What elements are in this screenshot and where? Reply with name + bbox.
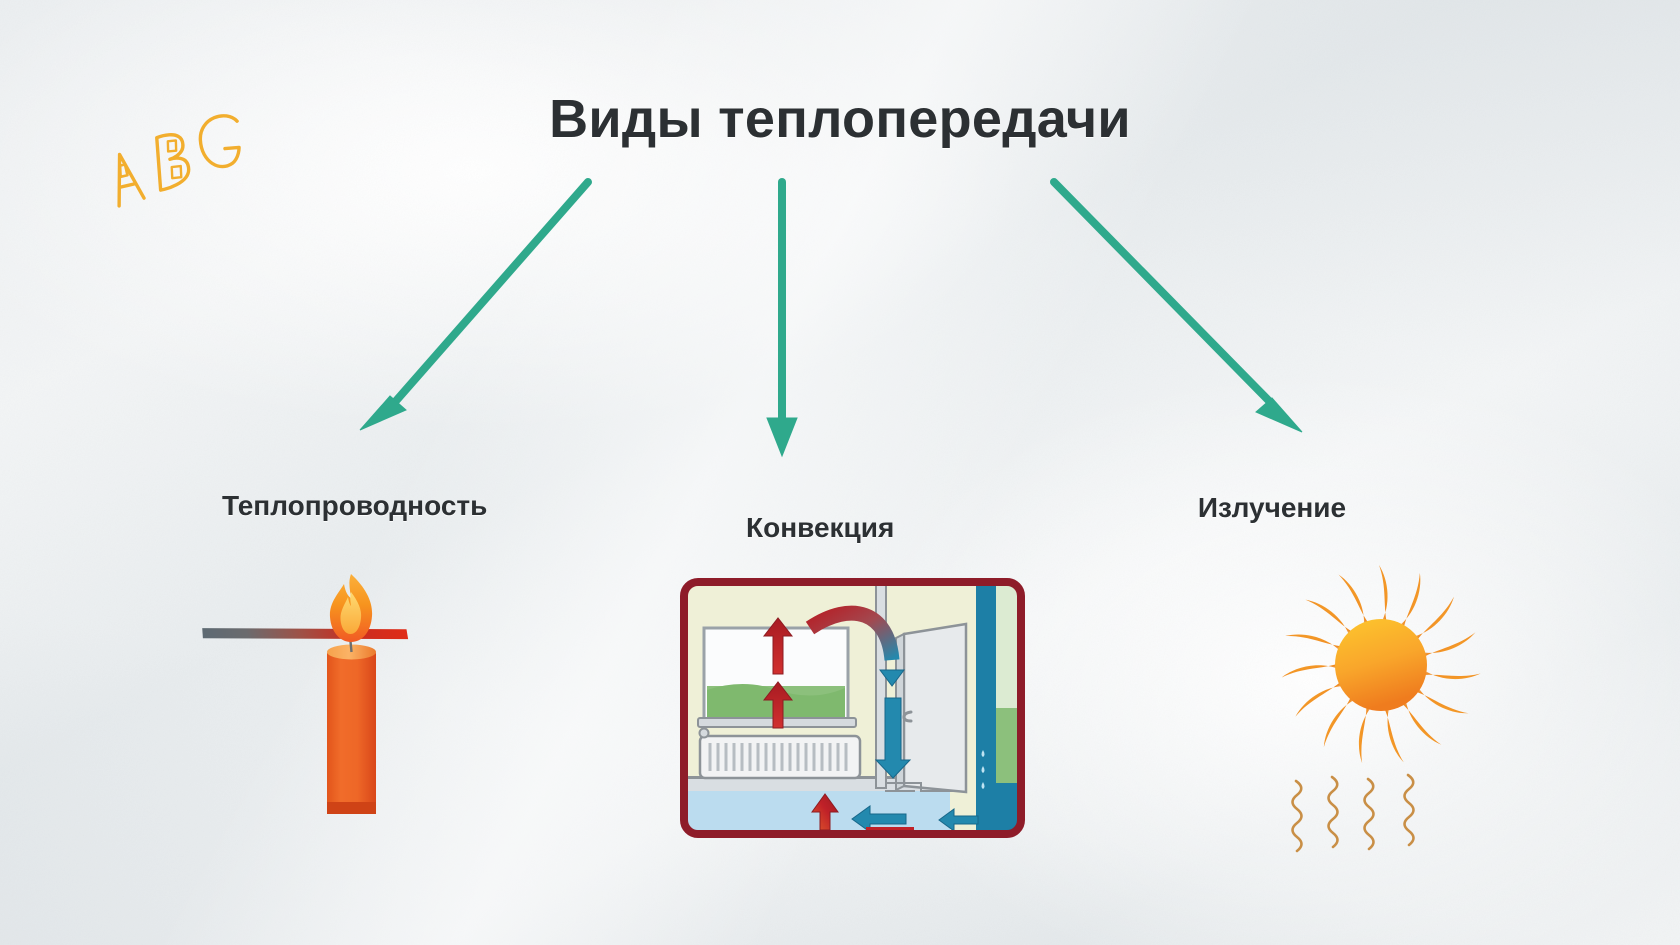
slide-canvas: Виды теплопередачи Теплопроводность Конв… xyxy=(0,0,1680,945)
candle-with-metal-rod-illustration xyxy=(160,540,430,850)
page-title: Виды теплопередачи xyxy=(0,88,1680,150)
arrow-to-conduction xyxy=(330,160,640,450)
arrow-to-convection xyxy=(740,160,840,470)
label-convection: Конвекция xyxy=(746,512,894,544)
room-convection-illustration xyxy=(680,578,1025,838)
arrow-to-radiation xyxy=(1040,160,1340,450)
label-radiation: Излучение xyxy=(1198,492,1346,524)
sun-radiation-illustration xyxy=(1268,555,1498,865)
label-conduction: Теплопроводность xyxy=(222,490,487,522)
